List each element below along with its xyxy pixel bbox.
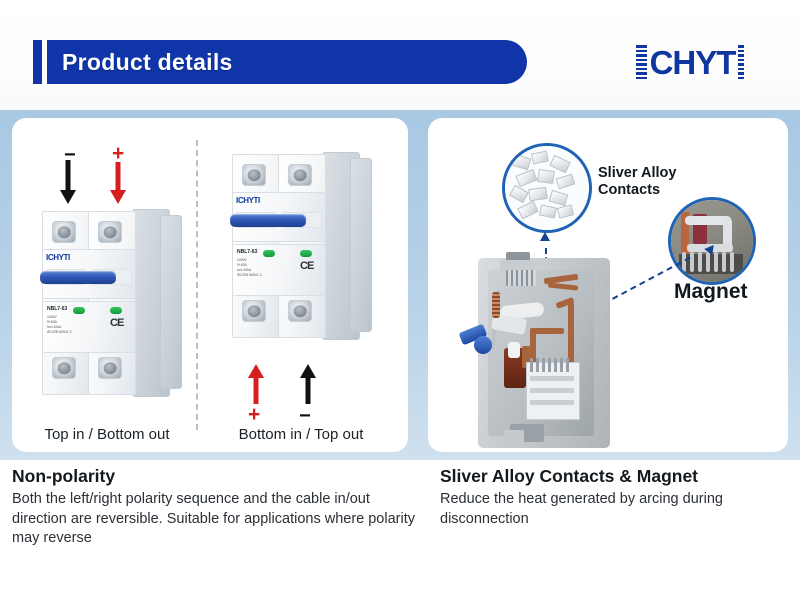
description-left: Non-polarity Both the left/right polarit… bbox=[12, 466, 422, 549]
silver-alloy-chips-icon bbox=[505, 146, 589, 230]
breaker-a-led-left bbox=[73, 307, 85, 314]
breaker-a-red-down-arrow bbox=[110, 162, 126, 206]
breaker-a-illustration: ICHYTI NBL7-63 1000V9+63AIcn=10kAIEC/EN … bbox=[40, 205, 190, 400]
breaker-b-red-up-arrow bbox=[248, 364, 264, 408]
logo-left-bars-icon bbox=[636, 45, 647, 79]
header-accent-bar bbox=[33, 40, 42, 84]
breaker-b-minus-sign: − bbox=[299, 406, 311, 426]
breaker-a-brand: ICHYTI bbox=[46, 253, 70, 262]
magnet-label: Magnet bbox=[674, 280, 748, 305]
breaker-a-led-right bbox=[110, 307, 122, 314]
silver-alloy-contacts-label: Sliver Alloy Contacts bbox=[598, 165, 676, 199]
breaker-b-specs: 1000V9+63AIcn=10kAIEC/EN 60947-2 bbox=[237, 258, 262, 278]
description-left-heading: Non-polarity bbox=[12, 466, 422, 487]
breaker-a-caption: Top in / Bottom out bbox=[22, 426, 192, 443]
page-header: Product details CHYT bbox=[0, 0, 800, 110]
breaker-b-led-right bbox=[300, 250, 312, 257]
leader-arrow-contacts bbox=[540, 232, 550, 241]
breaker-a-specs: 1000V9+63AIcn=10kAIEC/EN 60947-2 bbox=[47, 315, 72, 335]
breaker-b-illustration: ICHYTI NBL7-63 1000V9+63AIcn=10kAIEC/EN … bbox=[230, 148, 380, 343]
brand-logo: CHYT bbox=[600, 43, 780, 81]
description-right-heading: Sliver Alloy Contacts & Magnet bbox=[440, 466, 790, 487]
page-title: Product details bbox=[62, 49, 233, 76]
magnet-callout bbox=[668, 197, 756, 285]
breaker-b-model: NBL7-63 bbox=[237, 249, 257, 255]
breaker-b-ce-mark: CE bbox=[300, 260, 313, 272]
logo-text: CHYT bbox=[650, 46, 736, 79]
description-left-body: Both the left/right polarity sequence an… bbox=[12, 490, 422, 549]
breaker-a-plus-sign: + bbox=[112, 143, 124, 164]
description-right-body: Reduce the heat generated by arcing duri… bbox=[440, 490, 790, 529]
breaker-b-brand: ICHYTI bbox=[236, 196, 260, 205]
silver-alloy-contacts-callout bbox=[502, 143, 592, 233]
breaker-b-black-up-arrow bbox=[300, 364, 316, 408]
breaker-a-black-down-arrow bbox=[60, 160, 76, 204]
breaker-b-led-left bbox=[263, 250, 275, 257]
breaker-cutaway-icon bbox=[470, 258, 620, 448]
logo-right-bars-icon bbox=[738, 45, 744, 79]
magnet-closeup-icon bbox=[671, 200, 753, 282]
breaker-b-caption: Bottom in / Top out bbox=[206, 426, 396, 443]
breaker-b-plus-sign: + bbox=[248, 404, 260, 425]
breaker-a-model: NBL7-63 bbox=[47, 306, 67, 312]
breaker-a-ce-mark: CE bbox=[110, 317, 123, 329]
card-divider bbox=[196, 140, 198, 430]
description-right: Sliver Alloy Contacts & Magnet Reduce th… bbox=[440, 466, 790, 529]
